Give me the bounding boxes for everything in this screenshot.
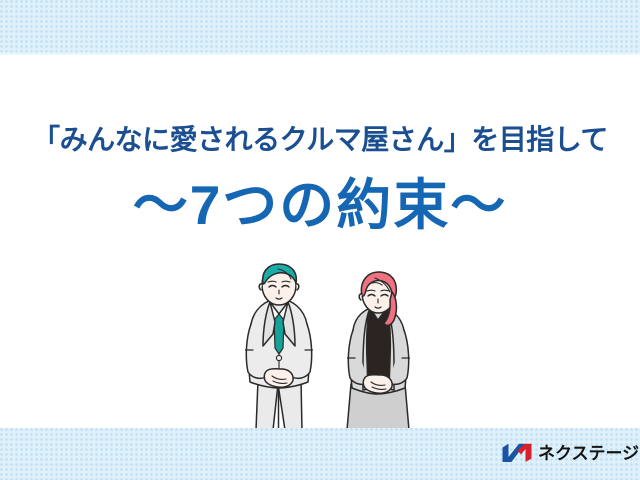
page-title-line-2: 〜7つの約束〜 bbox=[0, 178, 640, 233]
page-title-line-1: 「みんなに愛されるクルマ屋さん」を目指して bbox=[0, 126, 640, 154]
top-band-fade bbox=[0, 51, 640, 55]
nextage-logo: ネクステージ bbox=[502, 440, 639, 466]
nextage-logo-text: ネクステージ bbox=[538, 445, 639, 462]
nextage-n-mark-icon bbox=[502, 443, 532, 463]
staff-illustration-svg bbox=[232, 262, 432, 442]
promo-banner: 「みんなに愛されるクルマ屋さん」を目指して 〜7つの約束〜 bbox=[0, 0, 640, 480]
top-dot-band bbox=[0, 0, 640, 55]
female-staff-figure bbox=[347, 272, 410, 430]
male-staff-figure bbox=[246, 264, 313, 430]
bowing-staff-illustration bbox=[232, 262, 432, 442]
